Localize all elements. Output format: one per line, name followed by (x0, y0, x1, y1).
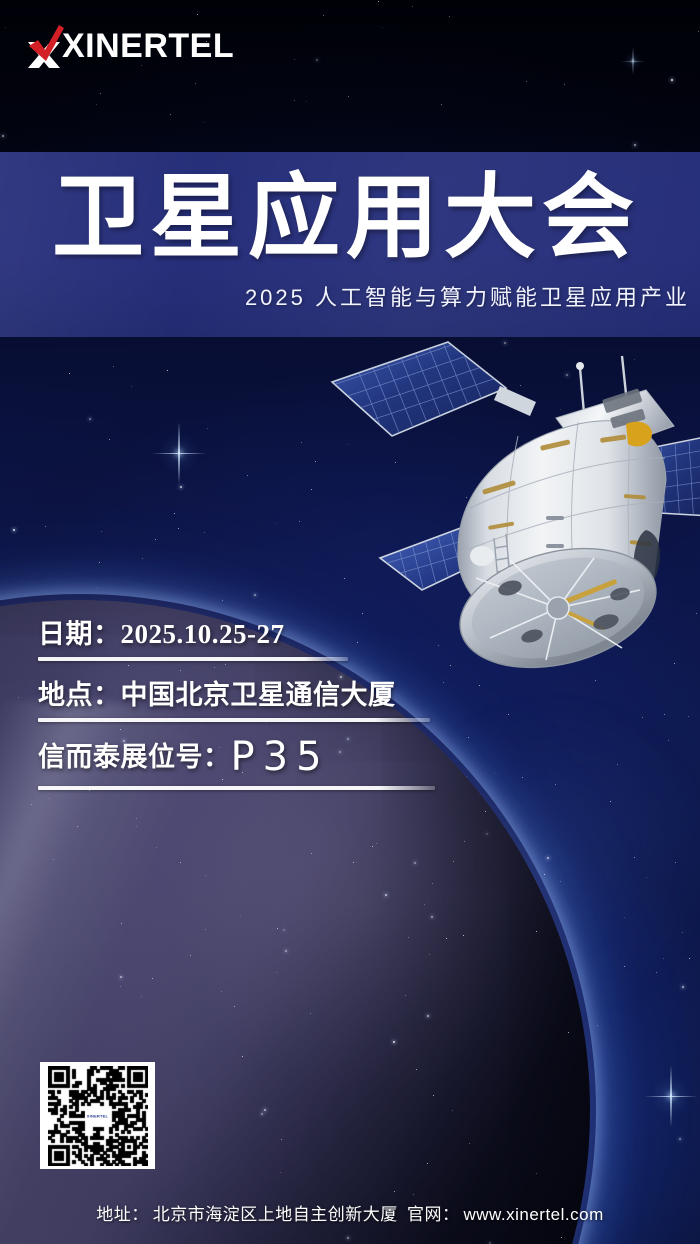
dish-hub (547, 597, 569, 619)
page-title: 卫星应用大会 (52, 166, 672, 270)
footer-site-value[interactable]: www.xinertel.com (463, 1205, 603, 1224)
booth-value: P35 (231, 734, 330, 780)
star-flare-small (633, 61, 634, 62)
underline-date (38, 657, 348, 661)
antenna-tip (576, 362, 584, 370)
footer-address-value: 北京市海淀区上地自主创新大厦 (153, 1205, 398, 1224)
info-row-venue: 地点：中国北京卫星通信大厦 (38, 673, 518, 722)
info-row-date: 日期：2025.10.25-27 (38, 612, 518, 661)
solar-panel-upper-left (330, 340, 536, 450)
brand-logo-text: XINERTEL (62, 24, 234, 68)
event-info-block: 日期：2025.10.25-27 地点：中国北京卫星通信大厦 信而泰展位号：P3… (38, 612, 518, 802)
xinertel-x-icon (26, 24, 66, 68)
info-line-date: 日期：2025.10.25-27 (38, 612, 518, 651)
booth-label: 信而泰展位号： (38, 742, 231, 772)
venue-value: 中国北京卫星通信大厦 (121, 680, 396, 710)
venue-label: 地点： (38, 680, 121, 710)
page-subtitle: 2025 人工智能与算力赋能卫星应用产业 (245, 280, 690, 312)
date-label: 日期： (38, 619, 121, 649)
underline-booth (38, 786, 435, 790)
info-line-venue: 地点：中国北京卫星通信大厦 (38, 673, 518, 712)
title-band: 卫星应用大会 2025 人工智能与算力赋能卫星应用产业 (0, 152, 700, 337)
qr-code[interactable]: XINERTEL (40, 1062, 155, 1169)
footer-contact: 地址：北京市海淀区上地自主创新大厦 官网：www.xinertel.com (0, 1200, 700, 1225)
info-line-booth: 信而泰展位号：P35 (38, 734, 518, 780)
dish-sphere-tank (470, 546, 494, 566)
star-flare-corner (670, 1095, 672, 1097)
date-value: 2025.10.25-27 (121, 619, 285, 649)
footer-address-label: 地址： (96, 1205, 149, 1224)
poster-canvas: XINERTEL 卫星应用大会 2025 人工智能与算力赋能卫星应用产业 (0, 0, 700, 1244)
footer-site-label: 官网： (407, 1205, 460, 1224)
qr-center-logo: XINERTEL (85, 1108, 111, 1123)
star-flare-bright (178, 452, 180, 454)
brand-logo[interactable]: XINERTEL (26, 22, 234, 70)
info-row-booth: 信而泰展位号：P35 (38, 734, 518, 790)
underline-venue (38, 718, 430, 722)
